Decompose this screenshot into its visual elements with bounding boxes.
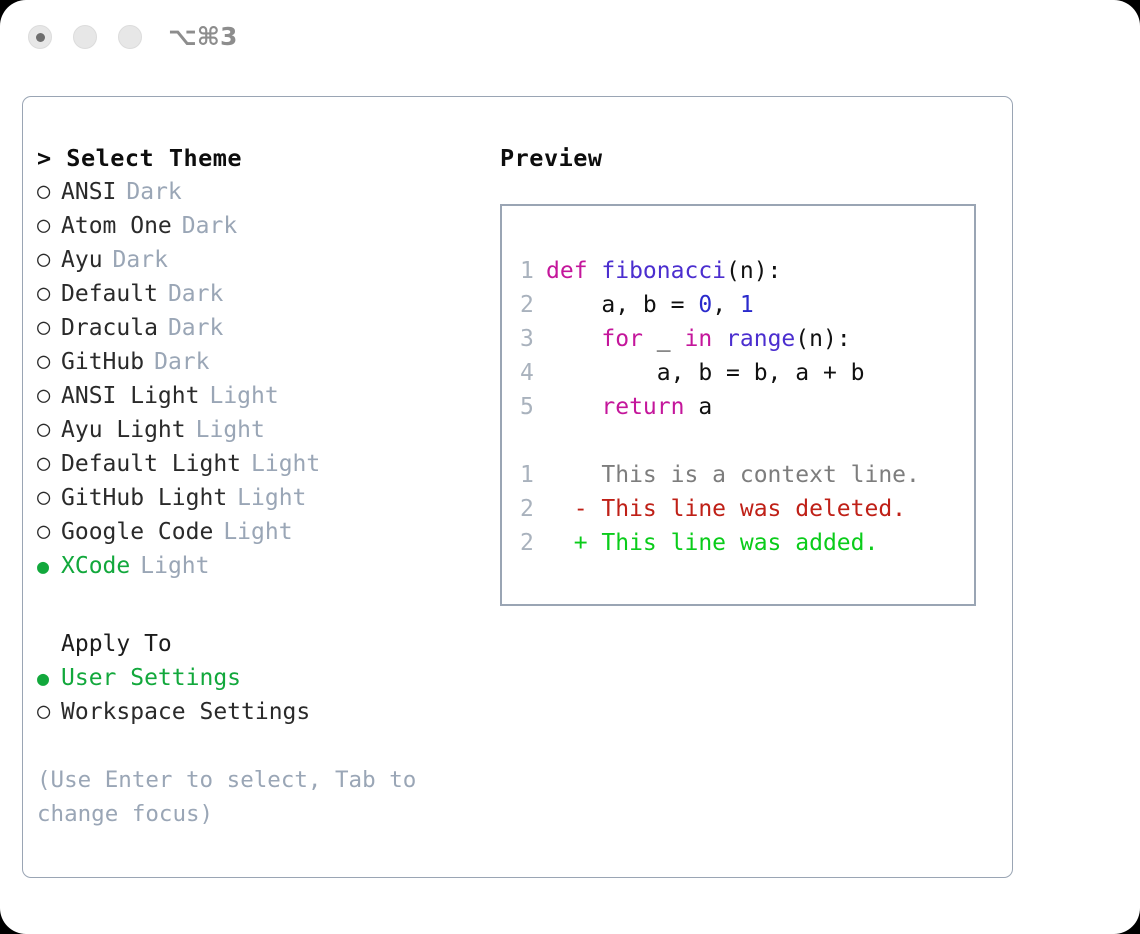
- code-token: ,: [712, 292, 740, 318]
- line-number: 2: [520, 496, 546, 522]
- preview-column: Preview 1def fibonacci(n):2 a, b = 0, 13…: [500, 141, 1000, 606]
- app-window: ⌥⌘3 > Select Theme ○ANSIDark○Atom OneDar…: [0, 0, 1140, 934]
- theme-list-item[interactable]: ○ANSI LightLight: [37, 379, 477, 413]
- theme-name: Ayu Light: [61, 417, 186, 443]
- diff-marker: -: [546, 496, 601, 522]
- keyboard-shortcut-label: ⌥⌘3: [168, 22, 237, 51]
- theme-name: Google Code: [61, 519, 213, 545]
- code-line: 1def fibonacci(n):: [520, 254, 966, 288]
- theme-name: Default Light: [61, 451, 241, 477]
- section-spacer: [37, 583, 477, 627]
- line-number: 5: [520, 394, 546, 420]
- radio-unselected-icon[interactable]: ○: [37, 453, 61, 475]
- code-line: 5 return a: [520, 390, 966, 424]
- theme-list: ○ANSIDark○Atom OneDark○AyuDark○DefaultDa…: [37, 175, 477, 583]
- radio-unselected-icon[interactable]: ○: [37, 487, 61, 509]
- theme-list-item[interactable]: ○ANSIDark: [37, 175, 477, 209]
- code-token: (n):: [795, 326, 850, 352]
- code-line: 3 for _ in range(n):: [520, 322, 966, 356]
- theme-name: GitHub: [61, 349, 144, 375]
- code-line: 4 a, b = b, a + b: [520, 356, 966, 390]
- theme-variant-tag: Light: [227, 485, 306, 511]
- theme-variant-tag: Dark: [158, 281, 223, 307]
- radio-unselected-icon[interactable]: ○: [37, 283, 61, 305]
- radio-unselected-icon[interactable]: ○: [37, 385, 61, 407]
- diff-line: 1 This is a context line.: [520, 458, 966, 492]
- code-token: in: [684, 326, 712, 352]
- theme-variant-tag: Light: [213, 519, 292, 545]
- line-number: 1: [520, 462, 546, 488]
- radio-unselected-icon[interactable]: ○: [37, 249, 61, 271]
- code-line: 2 a, b = 0, 1: [520, 288, 966, 322]
- diff-sample: 1 This is a context line.2 - This line w…: [520, 458, 966, 560]
- theme-list-item[interactable]: ○GitHubDark: [37, 345, 477, 379]
- radio-unselected-icon[interactable]: ○: [37, 181, 61, 203]
- code-token: a, b = b, a + b: [546, 360, 865, 386]
- apply-to-label: Workspace Settings: [61, 699, 310, 725]
- theme-name: Default: [61, 281, 158, 307]
- theme-name: Dracula: [61, 315, 158, 341]
- code-token: 1: [740, 292, 754, 318]
- theme-variant-tag: Dark: [158, 315, 223, 341]
- window-dot-third[interactable]: [118, 25, 142, 49]
- code-token: (n):: [726, 258, 781, 284]
- theme-list-item[interactable]: ○Ayu LightLight: [37, 413, 477, 447]
- line-number: 1: [520, 258, 546, 284]
- apply-to-bullet-placeholder: ○: [37, 633, 61, 655]
- code-token: return: [601, 394, 684, 420]
- apply-to-item[interactable]: ●User Settings: [37, 661, 477, 695]
- theme-list-item[interactable]: ○DraculaDark: [37, 311, 477, 345]
- apply-to-item[interactable]: ○Workspace Settings: [37, 695, 477, 729]
- code-token: _: [643, 326, 685, 352]
- code-token: for: [601, 326, 643, 352]
- code-token: def: [546, 258, 601, 284]
- apply-to-label: User Settings: [61, 665, 241, 691]
- code-token: [546, 394, 601, 420]
- hint-spacer: [37, 729, 477, 763]
- theme-name: XCode: [61, 553, 130, 579]
- title-bar: ⌥⌘3: [0, 0, 1140, 78]
- diff-text: This is a context line.: [601, 462, 920, 488]
- code-preview-area: 1def fibonacci(n):2 a, b = 0, 13 for _ i…: [520, 254, 966, 560]
- theme-list-item[interactable]: ○Default LightLight: [37, 447, 477, 481]
- theme-variant-tag: Dark: [103, 247, 168, 273]
- radio-unselected-icon[interactable]: ○: [37, 521, 61, 543]
- diff-text: This line was added.: [601, 530, 878, 556]
- keyboard-hint-text: (Use Enter to select, Tab to change focu…: [37, 763, 447, 831]
- diff-line: 2 + This line was added.: [520, 526, 966, 560]
- theme-list-item[interactable]: ○DefaultDark: [37, 277, 477, 311]
- code-token: [546, 326, 601, 352]
- preview-box: 1def fibonacci(n):2 a, b = 0, 13 for _ i…: [500, 204, 976, 606]
- theme-list-column: > Select Theme ○ANSIDark○Atom OneDark○Ay…: [37, 141, 477, 831]
- code-token: range: [726, 326, 795, 352]
- theme-list-item[interactable]: ○Atom OneDark: [37, 209, 477, 243]
- radio-selected-icon[interactable]: ●: [37, 668, 61, 688]
- theme-variant-tag: Dark: [172, 213, 237, 239]
- theme-list-item[interactable]: ○AyuDark: [37, 243, 477, 277]
- window-dot-active-indicator: [36, 33, 45, 42]
- theme-variant-tag: Light: [130, 553, 209, 579]
- theme-name: Atom One: [61, 213, 172, 239]
- window-dot-second[interactable]: [73, 25, 97, 49]
- apply-to-list: ●User Settings○Workspace Settings: [37, 661, 477, 729]
- radio-unselected-icon[interactable]: ○: [37, 701, 61, 723]
- theme-list-item[interactable]: ●XCodeLight: [37, 549, 477, 583]
- theme-variant-tag: Dark: [144, 349, 209, 375]
- preview-title: Preview: [500, 141, 1000, 175]
- theme-list-item[interactable]: ○Google CodeLight: [37, 515, 477, 549]
- select-theme-heading: > Select Theme: [37, 141, 477, 175]
- theme-name: Ayu: [61, 247, 103, 273]
- line-number: 2: [520, 530, 546, 556]
- code-token: a, b =: [546, 292, 698, 318]
- theme-variant-tag: Dark: [116, 179, 181, 205]
- code-token: [712, 326, 726, 352]
- diff-line: 2 - This line was deleted.: [520, 492, 966, 526]
- line-number: 4: [520, 360, 546, 386]
- code-token: a: [684, 394, 712, 420]
- code-token: 0: [698, 292, 712, 318]
- radio-unselected-icon[interactable]: ○: [37, 215, 61, 237]
- radio-selected-icon[interactable]: ●: [37, 556, 61, 576]
- theme-name: ANSI: [61, 179, 116, 205]
- diff-marker: [546, 462, 601, 488]
- line-number: 2: [520, 292, 546, 318]
- theme-name: ANSI Light: [61, 383, 199, 409]
- theme-variant-tag: Light: [241, 451, 320, 477]
- diff-marker: +: [546, 530, 601, 556]
- theme-name: GitHub Light: [61, 485, 227, 511]
- theme-variant-tag: Light: [186, 417, 265, 443]
- code-token: fibonacci: [601, 258, 726, 284]
- window-controls: [28, 25, 142, 49]
- window-dot-active[interactable]: [28, 25, 52, 49]
- code-diff-separator: [520, 424, 966, 458]
- line-number: 3: [520, 326, 546, 352]
- apply-to-heading: ○ Apply To: [37, 627, 477, 661]
- theme-variant-tag: Light: [199, 383, 278, 409]
- theme-list-item[interactable]: ○GitHub LightLight: [37, 481, 477, 515]
- diff-text: This line was deleted.: [601, 496, 906, 522]
- code-sample: 1def fibonacci(n):2 a, b = 0, 13 for _ i…: [520, 254, 966, 424]
- theme-picker-panel: > Select Theme ○ANSIDark○Atom OneDark○Ay…: [22, 96, 1013, 878]
- radio-unselected-icon[interactable]: ○: [37, 351, 61, 373]
- radio-unselected-icon[interactable]: ○: [37, 419, 61, 441]
- radio-unselected-icon[interactable]: ○: [37, 317, 61, 339]
